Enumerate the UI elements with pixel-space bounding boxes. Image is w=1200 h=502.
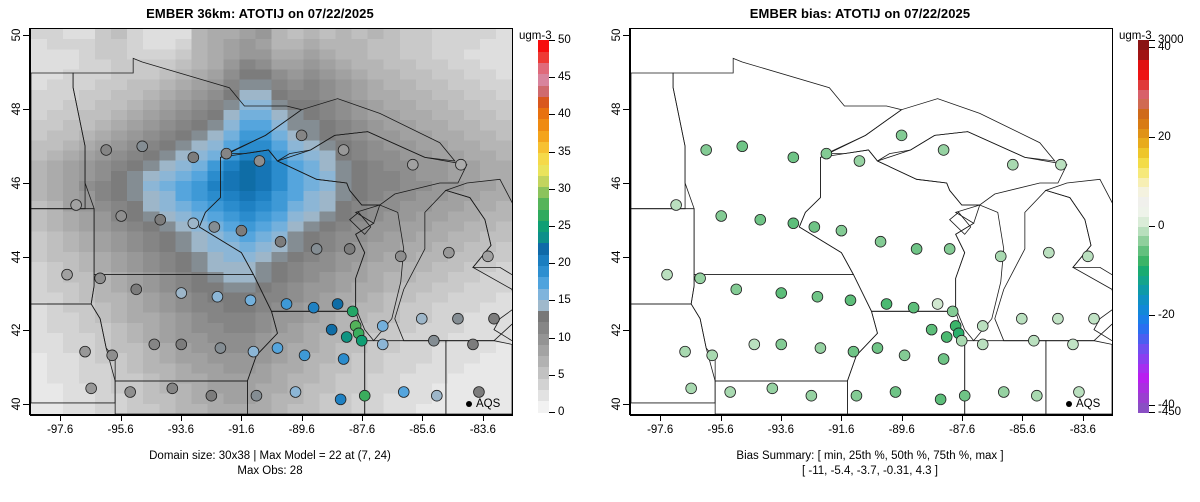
colorbar-swatch <box>538 367 549 379</box>
colorbar-swatch <box>1138 167 1149 177</box>
colorbar-swatch <box>1138 324 1149 334</box>
panel-bias: EMBER bias: ATOTIJ on 07/22/2025 AQS 404… <box>600 0 1200 502</box>
colorbar-swatch <box>1138 343 1149 353</box>
x-tick <box>121 415 122 421</box>
colorbar-tick <box>1149 405 1155 406</box>
colorbar-swatch <box>538 51 549 63</box>
caption-domain-size: Domain size: 30x38 | Max Model = 22 at (… <box>0 449 540 464</box>
colorbar-swatch <box>538 63 549 75</box>
colorbar-tick-label: 25 <box>558 220 571 232</box>
y-tick-label: 40 <box>11 397 23 410</box>
colorbar-swatch <box>1138 314 1149 324</box>
colorbar-tick-label: 5 <box>558 369 564 381</box>
colorbar-tick <box>1149 226 1155 227</box>
colorbar-tick-label: 15 <box>558 294 571 306</box>
colorbar-swatch <box>1138 265 1149 275</box>
x-tick-label: -83.6 <box>470 424 496 436</box>
colorbar-tick-label: 0 <box>1158 220 1164 232</box>
colorbar-tick <box>549 300 555 301</box>
colorbar-tick <box>1149 412 1155 413</box>
colorbar-swatch <box>538 401 549 413</box>
colorbar-swatch <box>1138 295 1149 305</box>
colorbar-swatch <box>1138 285 1149 295</box>
y-tick <box>23 35 29 36</box>
map-plot-bias[interactable] <box>630 28 1113 415</box>
colorbar-swatch <box>1138 50 1149 60</box>
colorbar-swatch <box>538 232 549 244</box>
colorbar-tick-label: 10 <box>558 332 571 344</box>
colorbar-swatch <box>538 378 549 390</box>
colorbar-swatch <box>1138 177 1149 187</box>
y-tick <box>23 404 29 405</box>
y-tick <box>623 404 629 405</box>
colorbar-tick <box>549 375 555 376</box>
colorbar-tick <box>1149 47 1155 48</box>
aqs-legend-label: AQS <box>1076 398 1100 410</box>
x-tick <box>181 415 182 421</box>
colorbar-swatch <box>538 175 549 187</box>
colorbar-tick-label: 45 <box>558 71 571 83</box>
colorbar-swatch <box>1138 226 1149 236</box>
colorbar-swatch <box>1138 206 1149 216</box>
colorbar-swatch <box>1138 353 1149 363</box>
y-tick <box>623 330 629 331</box>
figure-root: EMBER 36km: ATOTIJ on 07/22/2025 AQS 404… <box>0 0 1200 502</box>
x-tick-label: -95.6 <box>707 424 733 436</box>
colorbar-model: 05101520253035404550 <box>538 40 549 412</box>
colorbar-swatch <box>1138 157 1149 167</box>
caption-bias-header: Bias Summary: [ min, 25th %, 50th %, 75t… <box>600 449 1140 464</box>
colorbar-swatch <box>538 85 549 97</box>
colorbar-tick-label: 20 <box>558 257 571 269</box>
x-axis-model: -97.6-95.6-93.6-91.6-89.6-87.6-85.6-83.6 <box>30 415 513 416</box>
x-tick-label: -93.6 <box>768 424 794 436</box>
colorbar-swatch <box>1138 334 1149 344</box>
x-tick-label: -97.6 <box>47 424 73 436</box>
colorbar-swatch <box>538 130 549 142</box>
x-tick-label: -89.6 <box>889 424 915 436</box>
y-axis-bias: 404244464850 <box>629 28 630 415</box>
y-tick-label: 42 <box>11 324 23 337</box>
x-tick-label: -91.6 <box>228 424 254 436</box>
x-tick <box>781 415 782 421</box>
x-tick <box>841 415 842 421</box>
y-tick <box>623 35 629 36</box>
colorbar-swatch <box>538 119 549 131</box>
colorbar-tick-label: 0 <box>558 406 564 418</box>
colorbar-swatch <box>1138 402 1149 412</box>
colorbar-tick <box>549 338 555 339</box>
colorbar-tick-label: -40 <box>1158 399 1175 411</box>
colorbar-tick-label: 50 <box>558 34 571 46</box>
page-title: EMBER 36km: ATOTIJ on 07/22/2025 <box>0 6 520 21</box>
y-axis-model: 404244464850 <box>29 28 30 415</box>
colorbar-swatch <box>1138 99 1149 109</box>
colorbar-swatch <box>1138 40 1149 50</box>
colorbar-swatch <box>538 108 549 120</box>
colorbar-swatch <box>1138 383 1149 393</box>
colorbar-tick-label: 3000 <box>1158 34 1184 46</box>
colorbar-swatch <box>1138 304 1149 314</box>
colorbar-swatch <box>538 40 549 52</box>
colorbar-tick-label: 20 <box>1158 131 1171 143</box>
x-tick <box>422 415 423 421</box>
x-tick-label: -89.6 <box>289 424 315 436</box>
colorbar-swatch <box>1138 392 1149 402</box>
colorbar-swatch <box>1138 128 1149 138</box>
x-tick-label: -85.6 <box>409 424 435 436</box>
x-tick <box>1083 415 1084 421</box>
station-markers-model[interactable] <box>31 29 512 414</box>
y-tick <box>23 257 29 258</box>
colorbar-tick <box>1149 315 1155 316</box>
x-tick <box>302 415 303 421</box>
x-tick <box>962 415 963 421</box>
colorbar-swatch <box>538 187 549 199</box>
colorbar-tick-label: 30 <box>558 183 571 195</box>
x-tick <box>902 415 903 421</box>
x-tick <box>660 415 661 421</box>
y-tick-label: 50 <box>11 29 23 42</box>
colorbar-swatch <box>1138 69 1149 79</box>
y-tick-label: 48 <box>611 103 623 116</box>
colorbar-swatch <box>538 164 549 176</box>
y-tick <box>23 330 29 331</box>
colorbar-bias: -450-40-20020403000 <box>1138 40 1149 412</box>
caption-bias-values: [ -11, -5.4, -3.7, -0.31, 4.3 ] <box>600 464 1140 479</box>
page-title-bias: EMBER bias: ATOTIJ on 07/22/2025 <box>600 6 1120 21</box>
aqs-legend-bias: AQS <box>1066 398 1100 410</box>
x-tick-label: -87.6 <box>349 424 375 436</box>
map-plot-model[interactable] <box>30 28 513 415</box>
colorbar-swatch <box>538 254 549 266</box>
colorbar-swatch <box>1138 89 1149 99</box>
colorbar-swatch <box>1138 138 1149 148</box>
y-tick-label: 48 <box>11 103 23 116</box>
x-tick-label: -95.6 <box>107 424 133 436</box>
colorbar-tick <box>549 152 555 153</box>
x-tick <box>60 415 61 421</box>
y-tick <box>623 183 629 184</box>
colorbar-swatch <box>1138 197 1149 207</box>
colorbar-tick-label: 40 <box>558 108 571 120</box>
x-tick <box>1022 415 1023 421</box>
y-tick-label: 46 <box>11 176 23 189</box>
x-tick <box>483 415 484 421</box>
x-tick <box>362 415 363 421</box>
x-axis-bias: -97.6-95.6-93.6-91.6-89.6-87.6-85.6-83.6 <box>630 415 1113 416</box>
colorbar-tick <box>549 226 555 227</box>
aqs-legend-model: AQS <box>466 398 500 410</box>
colorbar-swatch <box>538 344 549 356</box>
colorbar-swatch <box>538 299 549 311</box>
colorbar-swatch <box>538 389 549 401</box>
y-tick-label: 50 <box>611 29 623 42</box>
colorbar-swatch <box>538 311 549 323</box>
colorbar-swatch <box>1138 236 1149 246</box>
colorbar-tick <box>549 412 555 413</box>
colorbar-tick <box>549 189 555 190</box>
colorbar-tick <box>1149 40 1155 41</box>
y-tick-label: 46 <box>611 176 623 189</box>
colorbar-swatch <box>1138 363 1149 373</box>
y-tick-label: 44 <box>611 250 623 263</box>
colorbar-swatch <box>1138 60 1149 70</box>
y-tick <box>623 257 629 258</box>
colorbar-tick <box>549 263 555 264</box>
colorbar-swatch <box>1138 216 1149 226</box>
x-tick <box>241 415 242 421</box>
y-tick <box>623 109 629 110</box>
aqs-dot-icon <box>1066 401 1072 407</box>
colorbar-tick <box>549 77 555 78</box>
aqs-legend-label: AQS <box>476 398 500 410</box>
colorbar-swatch <box>538 209 549 221</box>
colorbar-swatch <box>1138 373 1149 383</box>
colorbar-swatch <box>538 288 549 300</box>
colorbar-swatch <box>1138 79 1149 89</box>
x-tick-label: -85.6 <box>1009 424 1035 436</box>
colorbar-swatch <box>1138 246 1149 256</box>
colorbar-tick-label: -20 <box>1158 309 1175 321</box>
caption-max-obs: Max Obs: 28 <box>0 464 540 479</box>
colorbar-swatch <box>538 277 549 289</box>
x-tick-label: -83.6 <box>1070 424 1096 436</box>
colorbar-swatch <box>1138 148 1149 158</box>
colorbar-swatch <box>538 333 549 345</box>
colorbar-swatch <box>1138 187 1149 197</box>
colorbar-tick <box>549 40 555 41</box>
colorbar-swatch <box>538 220 549 232</box>
colorbar-swatch <box>538 356 549 368</box>
aqs-dot-icon <box>466 401 472 407</box>
colorbar-swatch <box>538 265 549 277</box>
y-tick-label: 44 <box>11 250 23 263</box>
colorbar-tick <box>549 114 555 115</box>
colorbar-swatch <box>538 198 549 210</box>
colorbar-swatch <box>538 322 549 334</box>
x-tick <box>721 415 722 421</box>
station-markers-bias[interactable] <box>631 29 1112 414</box>
colorbar-swatch <box>538 141 549 153</box>
colorbar-swatch <box>1138 275 1149 285</box>
colorbar-swatch <box>1138 118 1149 128</box>
y-tick-label: 40 <box>611 397 623 410</box>
colorbar-swatch <box>538 74 549 86</box>
panel-model: EMBER 36km: ATOTIJ on 07/22/2025 AQS 404… <box>0 0 600 502</box>
y-tick <box>23 183 29 184</box>
colorbar-swatch <box>538 96 549 108</box>
x-tick-label: -91.6 <box>828 424 854 436</box>
y-tick <box>23 109 29 110</box>
colorbar-tick-label: 35 <box>558 146 571 158</box>
colorbar-swatch <box>538 243 549 255</box>
y-tick-label: 42 <box>611 324 623 337</box>
colorbar-swatch <box>538 153 549 165</box>
colorbar-swatch <box>1138 255 1149 265</box>
x-tick-label: -87.6 <box>949 424 975 436</box>
x-tick-label: -97.6 <box>647 424 673 436</box>
x-tick-label: -93.6 <box>168 424 194 436</box>
colorbar-swatch <box>1138 109 1149 119</box>
colorbar-tick <box>1149 137 1155 138</box>
